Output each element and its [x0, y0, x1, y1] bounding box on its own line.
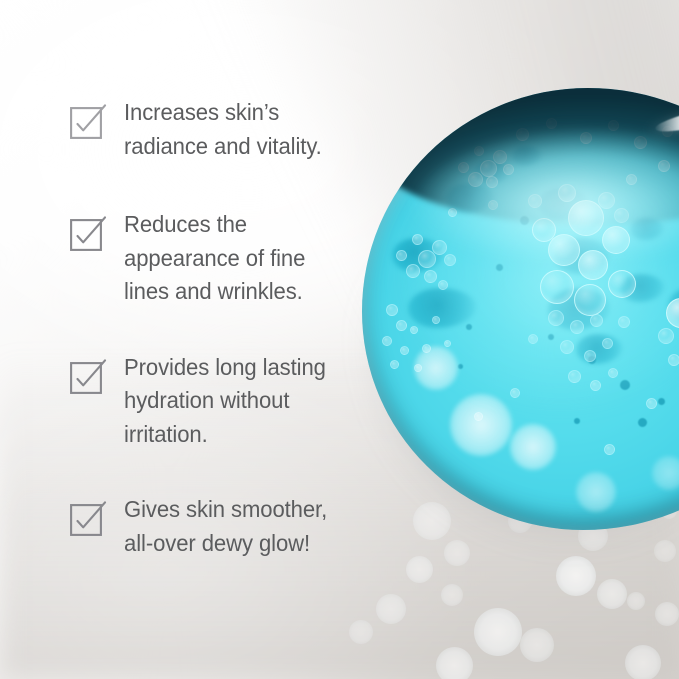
bokeh-circle [625, 645, 661, 679]
bokeh-circle [436, 647, 473, 679]
benefit-item-hydration: Provides long lasting hydration without … [70, 351, 370, 452]
bokeh-circle [627, 592, 645, 610]
benefits-list: Increases skin’s radiance and vitality. … [70, 96, 370, 560]
product-benefits-graphic: Increases skin’s radiance and vitality. … [0, 0, 679, 679]
bokeh-circle [655, 602, 679, 626]
bokeh-circle [654, 540, 676, 562]
bokeh-circle [520, 628, 554, 662]
bokeh-circle [444, 540, 470, 566]
benefit-text: Provides long lasting hydration without … [124, 351, 326, 452]
benefit-text: Gives skin smoother, all-over dewy glow! [124, 493, 327, 560]
checkmark-box-icon [70, 107, 102, 139]
benefit-item-radiance: Increases skin’s radiance and vitality. [70, 96, 370, 163]
bokeh-circle [597, 579, 627, 609]
gel-droplet [362, 88, 679, 536]
checkmark-box-icon [70, 362, 102, 394]
bokeh-circle [474, 608, 522, 656]
bokeh-circle [406, 556, 433, 583]
bokeh-circle [556, 556, 596, 596]
benefit-text: Reduces the appearance of fine lines and… [124, 208, 305, 309]
droplet-body [362, 88, 679, 530]
checkmark-box-icon [70, 219, 102, 251]
benefit-text: Increases skin’s radiance and vitality. [124, 96, 322, 163]
checkmark-box-icon [70, 504, 102, 536]
benefit-item-fine-lines: Reduces the appearance of fine lines and… [70, 208, 370, 309]
benefit-item-glow: Gives skin smoother, all-over dewy glow! [70, 493, 370, 560]
bokeh-circle [441, 584, 463, 606]
bokeh-circle [349, 620, 373, 644]
bokeh-circle [376, 594, 406, 624]
